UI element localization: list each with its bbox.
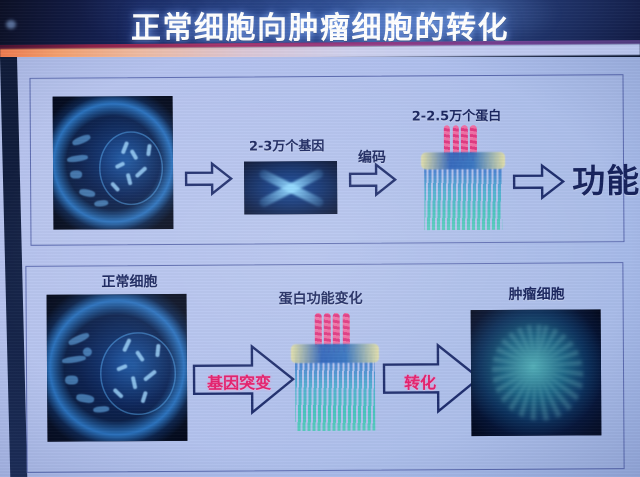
normal-cell-image-bottom bbox=[47, 294, 188, 442]
label-encode: 编码 bbox=[358, 147, 386, 167]
arrow-right-icon-1 bbox=[185, 162, 233, 196]
chromosome-image bbox=[244, 161, 337, 215]
arrow-right-icon-2 bbox=[349, 163, 397, 197]
panel-transformation: 正常细胞 bbox=[25, 262, 624, 473]
label-transformation: 转化 bbox=[404, 369, 436, 393]
label-gene-count: 2-3万个基因 bbox=[249, 135, 325, 154]
title-bar: 正常细胞向肿瘤细胞的转化 bbox=[0, 0, 640, 46]
label-tumor-cell: 肿瘤细胞 bbox=[508, 284, 564, 304]
page-title: 正常细胞向肿瘤细胞的转化 bbox=[0, 3, 640, 46]
label-protein-function-change: 蛋白功能变化 bbox=[279, 288, 363, 309]
slide-screenshot: 正常细胞向肿瘤细胞的转化 bbox=[0, 0, 640, 477]
arrow-right-icon-3 bbox=[513, 164, 565, 200]
panel-central-dogma: 2-3万个基因 编码 2-2.5万个蛋白 bbox=[29, 74, 624, 246]
label-gene-mutation: 基因突变 bbox=[207, 369, 271, 393]
tumor-cell-image bbox=[471, 309, 602, 436]
label-normal-cell: 正常细胞 bbox=[101, 271, 157, 291]
slide-body: 2-3万个基因 编码 2-2.5万个蛋白 bbox=[0, 57, 640, 477]
normal-cell-image-top bbox=[53, 96, 174, 230]
protein-structure-bottom bbox=[291, 313, 380, 432]
left-edge-shadow bbox=[0, 57, 27, 477]
label-protein-count: 2-2.5万个蛋白 bbox=[412, 105, 502, 125]
label-function: 功能 bbox=[572, 154, 640, 202]
protein-structure-top bbox=[421, 125, 506, 231]
